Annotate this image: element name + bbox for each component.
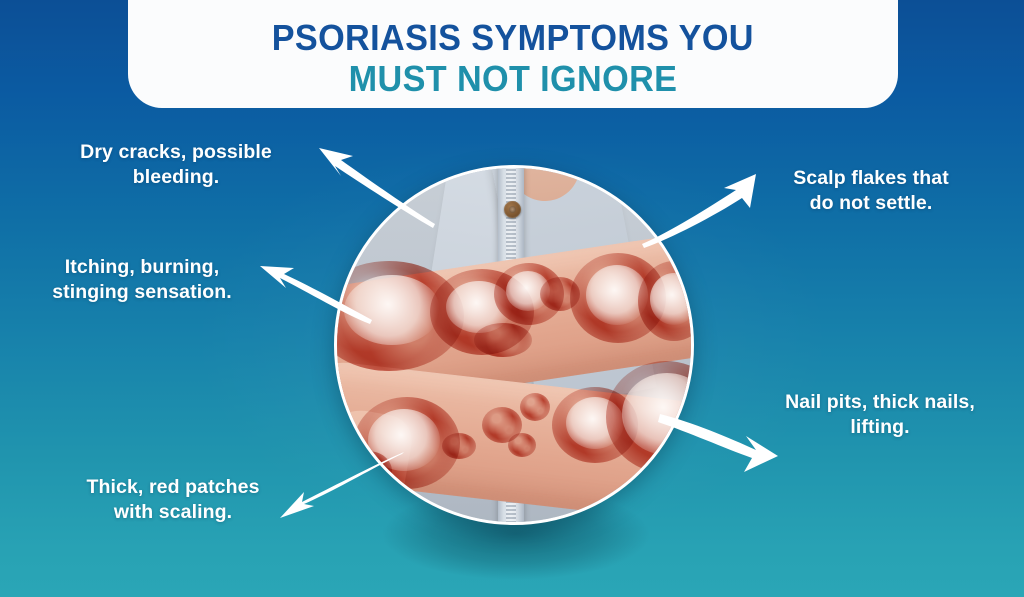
plaque: [520, 393, 550, 421]
callout-thick-red-patches: Thick, red patches with scaling.: [48, 475, 298, 526]
arrow-icon-itching-burning: [252, 258, 372, 330]
plaque: [508, 433, 536, 457]
callout-line-2: bleeding.: [42, 165, 310, 190]
callout-line-1: Itching, burning,: [14, 255, 270, 280]
infographic-canvas: PSORIASIS SYMPTOMS YOU MUST NOT IGNORE: [0, 0, 1024, 597]
callout-line-1: Scalp flakes that: [748, 166, 994, 191]
callout-line-1: Thick, red patches: [48, 475, 298, 500]
callout-nail-pits: Nail pits, thick nails, lifting.: [744, 390, 1016, 441]
plaque: [474, 323, 532, 357]
callout-itching-burning: Itching, burning, stinging sensation.: [14, 255, 270, 306]
page-title-line-2: MUST NOT IGNORE: [349, 58, 678, 100]
callout-line-2: do not settle.: [748, 191, 994, 216]
callout-line-2: stinging sensation.: [14, 280, 270, 305]
arrow-icon-nail-pits: [658, 396, 782, 478]
plaque-scale: [650, 273, 694, 325]
plaque: [442, 433, 476, 459]
callout-line-1: Dry cracks, possible: [42, 140, 310, 165]
page-title-line-1: PSORIASIS SYMPTOMS YOU: [272, 17, 754, 59]
callout-dry-cracks: Dry cracks, possible bleeding.: [42, 140, 310, 191]
callout-scalp-flakes: Scalp flakes that do not settle.: [748, 166, 994, 217]
arrow-icon-thick-red-patches: [272, 450, 404, 532]
shirt-button-upper: [504, 201, 521, 218]
arrow-icon-dry-cracks: [305, 140, 435, 232]
arrow-icon-scalp-flakes: [640, 166, 762, 248]
plaque: [540, 277, 580, 311]
callout-line-1: Nail pits, thick nails,: [744, 390, 1016, 415]
callout-line-2: with scaling.: [48, 500, 298, 525]
header-panel: PSORIASIS SYMPTOMS YOU MUST NOT IGNORE: [128, 0, 898, 108]
callout-line-2: lifting.: [744, 415, 1016, 440]
